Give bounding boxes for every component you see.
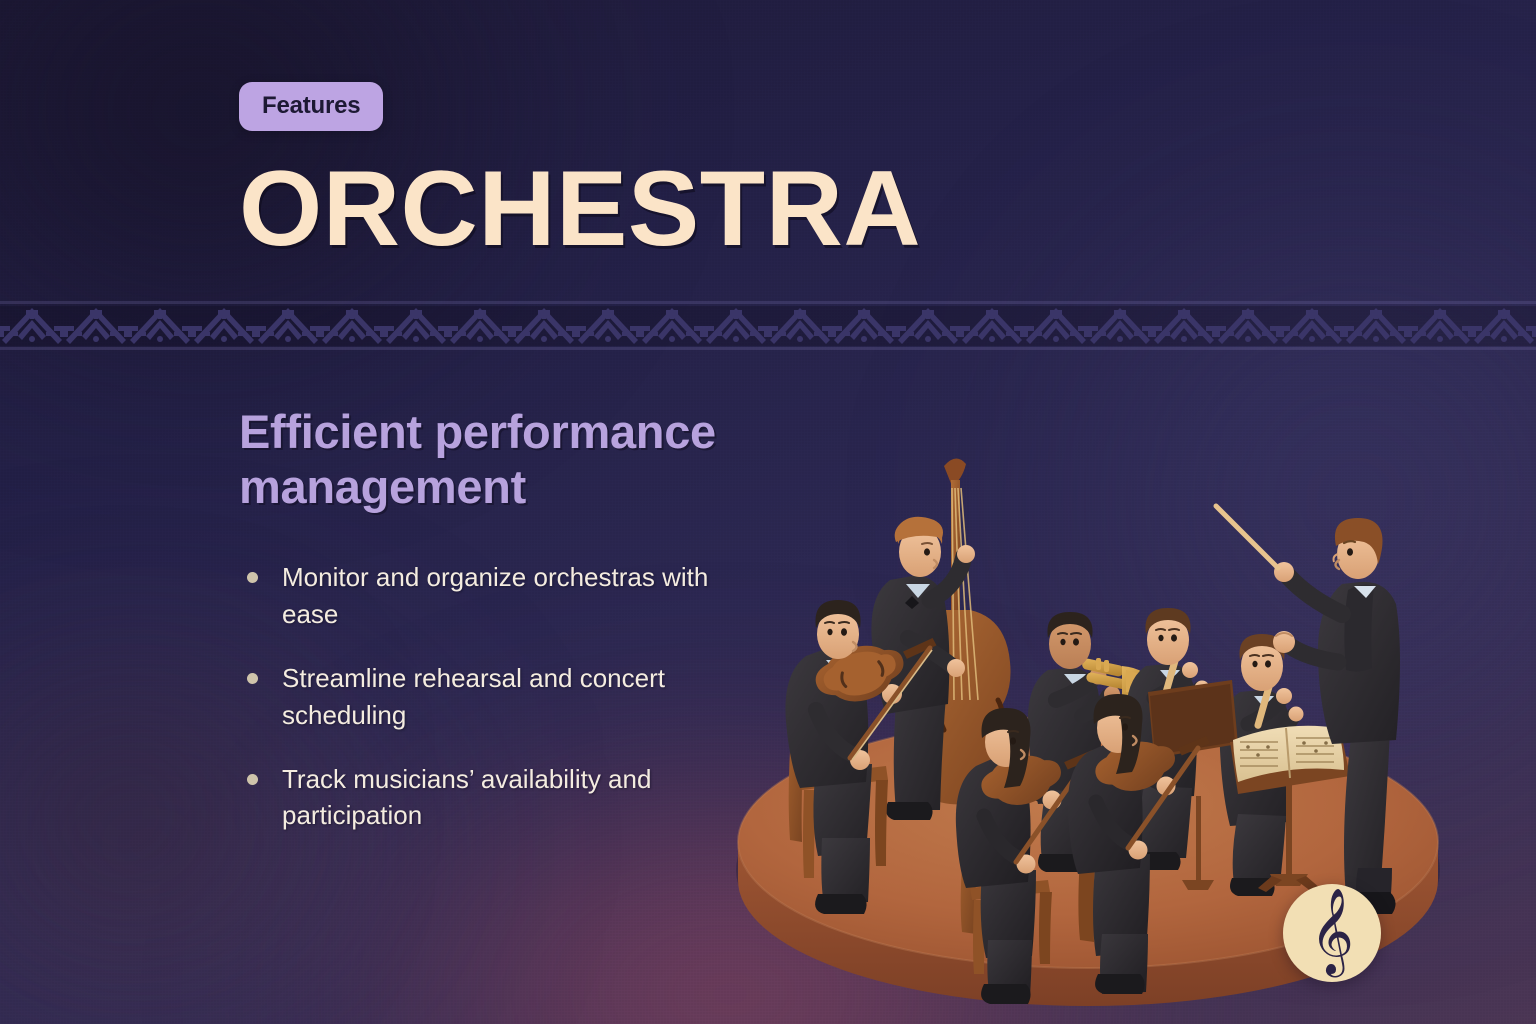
- treble-clef-badge: 𝄞: [1283, 884, 1381, 982]
- list-item: Track musicians’ availability and partic…: [239, 761, 737, 835]
- treble-clef-icon: 𝄞: [1310, 894, 1354, 968]
- features-badge[interactable]: Features: [239, 82, 383, 131]
- bullet-dot-icon: [247, 774, 258, 785]
- divider-rule-bottom: [0, 347, 1536, 350]
- divider-rule-top: [0, 301, 1536, 304]
- bullet-dot-icon: [247, 572, 258, 583]
- ornamental-divider: [0, 296, 1536, 354]
- list-item: Monitor and organize orchestras with eas…: [239, 559, 737, 633]
- page-title: ORCHESTRA: [239, 150, 921, 268]
- list-item-label: Track musicians’ availability and partic…: [282, 764, 651, 831]
- list-item: Streamline rehearsal and concert schedul…: [239, 660, 737, 734]
- list-item-label: Streamline rehearsal and concert schedul…: [282, 663, 665, 730]
- divider-pattern: [0, 306, 1536, 346]
- list-item-label: Monitor and organize orchestras with eas…: [282, 562, 708, 629]
- bullet-dot-icon: [247, 673, 258, 684]
- slide-root: Features ORCHESTRA Efficient performance…: [0, 0, 1536, 1024]
